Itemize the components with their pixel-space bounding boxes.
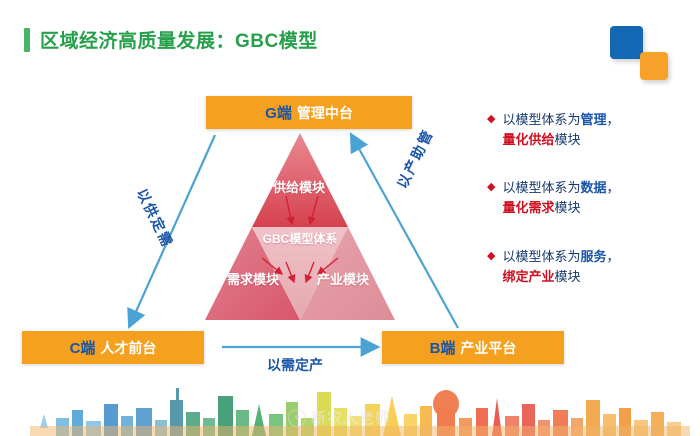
node-b-industry-platform[interactable]: B端 产业平台 — [382, 331, 564, 364]
edge-label-bottom: 以需定产 — [267, 355, 323, 375]
node-c-name: 人才前台 — [100, 338, 156, 358]
diamond-bullet-icon: ◆ — [487, 182, 495, 193]
bullet-lead: 以模型体系为 — [502, 180, 580, 195]
list-item: ◆ 以模型体系为管理，量化供给模块 — [487, 110, 692, 150]
bullet-tail: 模块 — [554, 132, 580, 147]
watermark-text: 新农人老师 — [311, 407, 391, 428]
bullet-comma: ， — [607, 112, 620, 127]
node-g-name: 管理中台 — [297, 103, 353, 123]
bullet-text: 以模型体系为服务，绑定产业模块 — [502, 247, 619, 287]
list-item: ◆ 以模型体系为数据，量化需求模块 — [487, 178, 692, 218]
diamond-bullet-icon: ◆ — [487, 251, 495, 262]
weibo-icon: ● — [288, 409, 306, 427]
diamond-bullet-icon: ◆ — [487, 114, 495, 125]
triangle-label-demand: 需求模块 — [222, 272, 284, 288]
bullet-tail: 模块 — [554, 269, 580, 284]
bullet-comma: ， — [607, 249, 620, 264]
node-c-talent-frontdesk[interactable]: C端 人才前台 — [22, 331, 204, 364]
bullet-keyword-blue: 管理 — [580, 112, 606, 127]
bullet-keyword-red: 量化供给 — [502, 132, 554, 147]
bullet-keyword-blue: 数据 — [580, 180, 606, 195]
bullet-comma: ， — [607, 180, 620, 195]
node-g-tag: G端 — [265, 102, 292, 123]
bullet-tail: 模块 — [554, 200, 580, 215]
triangle-label-industry: 产业模块 — [312, 272, 374, 288]
node-b-tag: B端 — [430, 337, 456, 358]
bullet-text: 以模型体系为管理，量化供给模块 — [502, 110, 619, 150]
node-c-tag: C端 — [70, 337, 96, 358]
bullet-lead: 以模型体系为 — [502, 112, 580, 127]
node-g-management-hub[interactable]: G端 管理中台 — [206, 96, 412, 129]
bullet-text: 以模型体系为数据，量化需求模块 — [502, 178, 619, 218]
triangle-label-gbc-model: GBC模型体系 — [262, 232, 338, 247]
triangle-label-supply: 供给模块 — [268, 180, 330, 196]
bullet-keyword-red: 绑定产业 — [502, 269, 554, 284]
slide-canvas: 区域经济高质量发展：GBC模型 — [0, 0, 700, 436]
list-item: ◆ 以模型体系为服务，绑定产业模块 — [487, 247, 692, 287]
bullet-lead: 以模型体系为 — [502, 249, 580, 264]
node-b-name: 产业平台 — [460, 338, 516, 358]
bullet-keyword-red: 量化需求 — [502, 200, 554, 215]
bullet-keyword-blue: 服务 — [580, 249, 606, 264]
bullet-list: ◆ 以模型体系为管理，量化供给模块 ◆ 以模型体系为数据，量化需求模块 ◆ 以模… — [487, 110, 692, 315]
watermark: ● 新农人老师 — [288, 407, 391, 428]
